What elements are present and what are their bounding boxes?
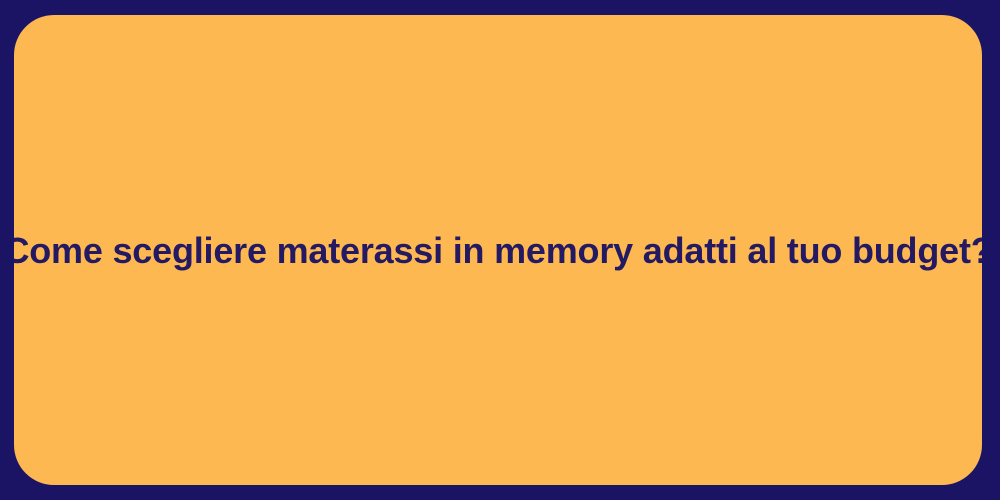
headline-text: Come scegliere materassi in memory adatt…: [14, 228, 982, 273]
banner-frame: Come scegliere materassi in memory adatt…: [0, 0, 1000, 500]
content-card: Come scegliere materassi in memory adatt…: [14, 15, 982, 485]
